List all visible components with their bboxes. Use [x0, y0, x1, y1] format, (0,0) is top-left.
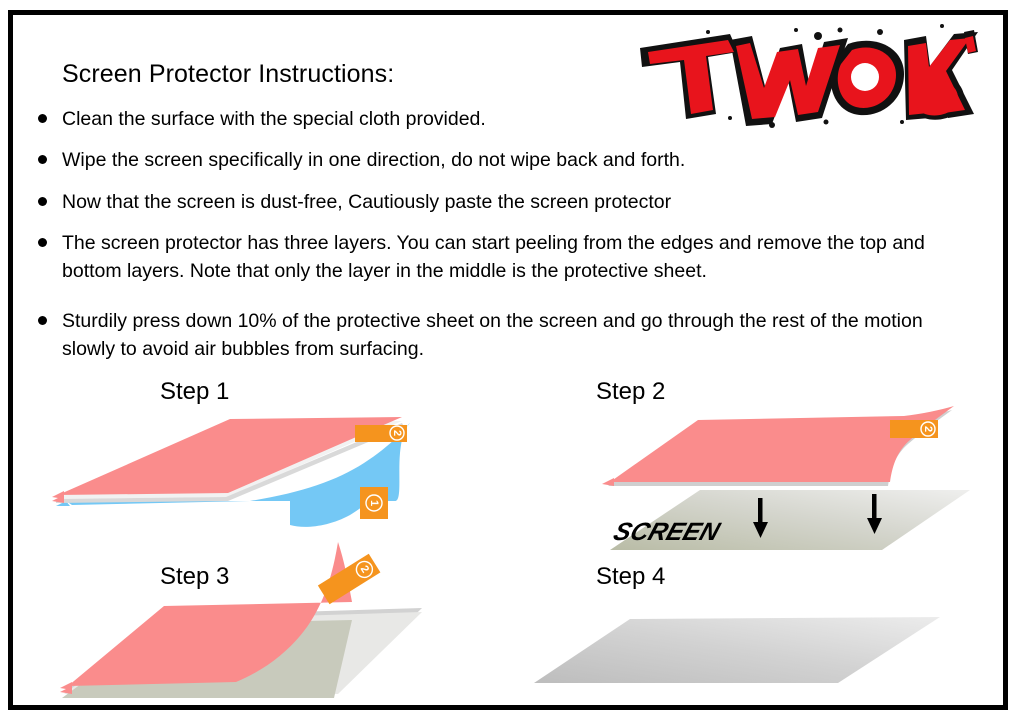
svg-text:2: 2 — [391, 430, 403, 436]
instruction-bullet-1: Clean the surface with the special cloth… — [38, 105, 678, 133]
step-1-label: Step 1 — [160, 378, 229, 406]
instruction-sheet: Screen Protector Instructions: Clean the… — [0, 0, 1024, 724]
bullet-marker — [38, 238, 47, 247]
step-3-figure: 2 — [52, 540, 452, 710]
instruction-text: Sturdily press down 10% of the protectiv… — [62, 307, 970, 363]
instruction-text: Wipe the screen specifically in one dire… — [62, 146, 838, 174]
bullet-marker — [38, 114, 47, 123]
instruction-bullet-3: Now that the screen is dust-free, Cautio… — [38, 188, 838, 216]
peel-tab-1: 1 — [360, 487, 388, 519]
bullet-marker — [38, 155, 47, 164]
instruction-text: Clean the surface with the special cloth… — [62, 105, 678, 133]
screen-panel: SCREEN — [610, 490, 970, 550]
step-4-label: Step 4 — [596, 563, 665, 591]
step-2-figure: SCREEN 2 — [550, 398, 990, 568]
step-4-figure — [520, 595, 970, 705]
page-title: Screen Protector Instructions: — [62, 60, 394, 89]
instruction-text: Now that the screen is dust-free, Cautio… — [62, 188, 838, 216]
bullet-marker — [38, 316, 47, 325]
peel-tab-2: 2 — [355, 425, 407, 442]
screen-label: SCREEN — [610, 519, 723, 546]
svg-text:2: 2 — [922, 426, 934, 432]
step-1-figure: 2 1 — [50, 405, 450, 545]
instruction-bullet-2: Wipe the screen specifically in one dire… — [38, 146, 838, 174]
peel-tab-2: 2 — [890, 420, 938, 438]
applied-protector — [534, 617, 940, 683]
bullet-marker — [38, 197, 47, 206]
instruction-text: The screen protector has three layers. Y… — [62, 229, 970, 285]
instruction-bullet-5: Sturdily press down 10% of the protectiv… — [38, 307, 970, 363]
svg-text:1: 1 — [368, 500, 380, 506]
instruction-bullet-4: The screen protector has three layers. Y… — [38, 229, 970, 285]
